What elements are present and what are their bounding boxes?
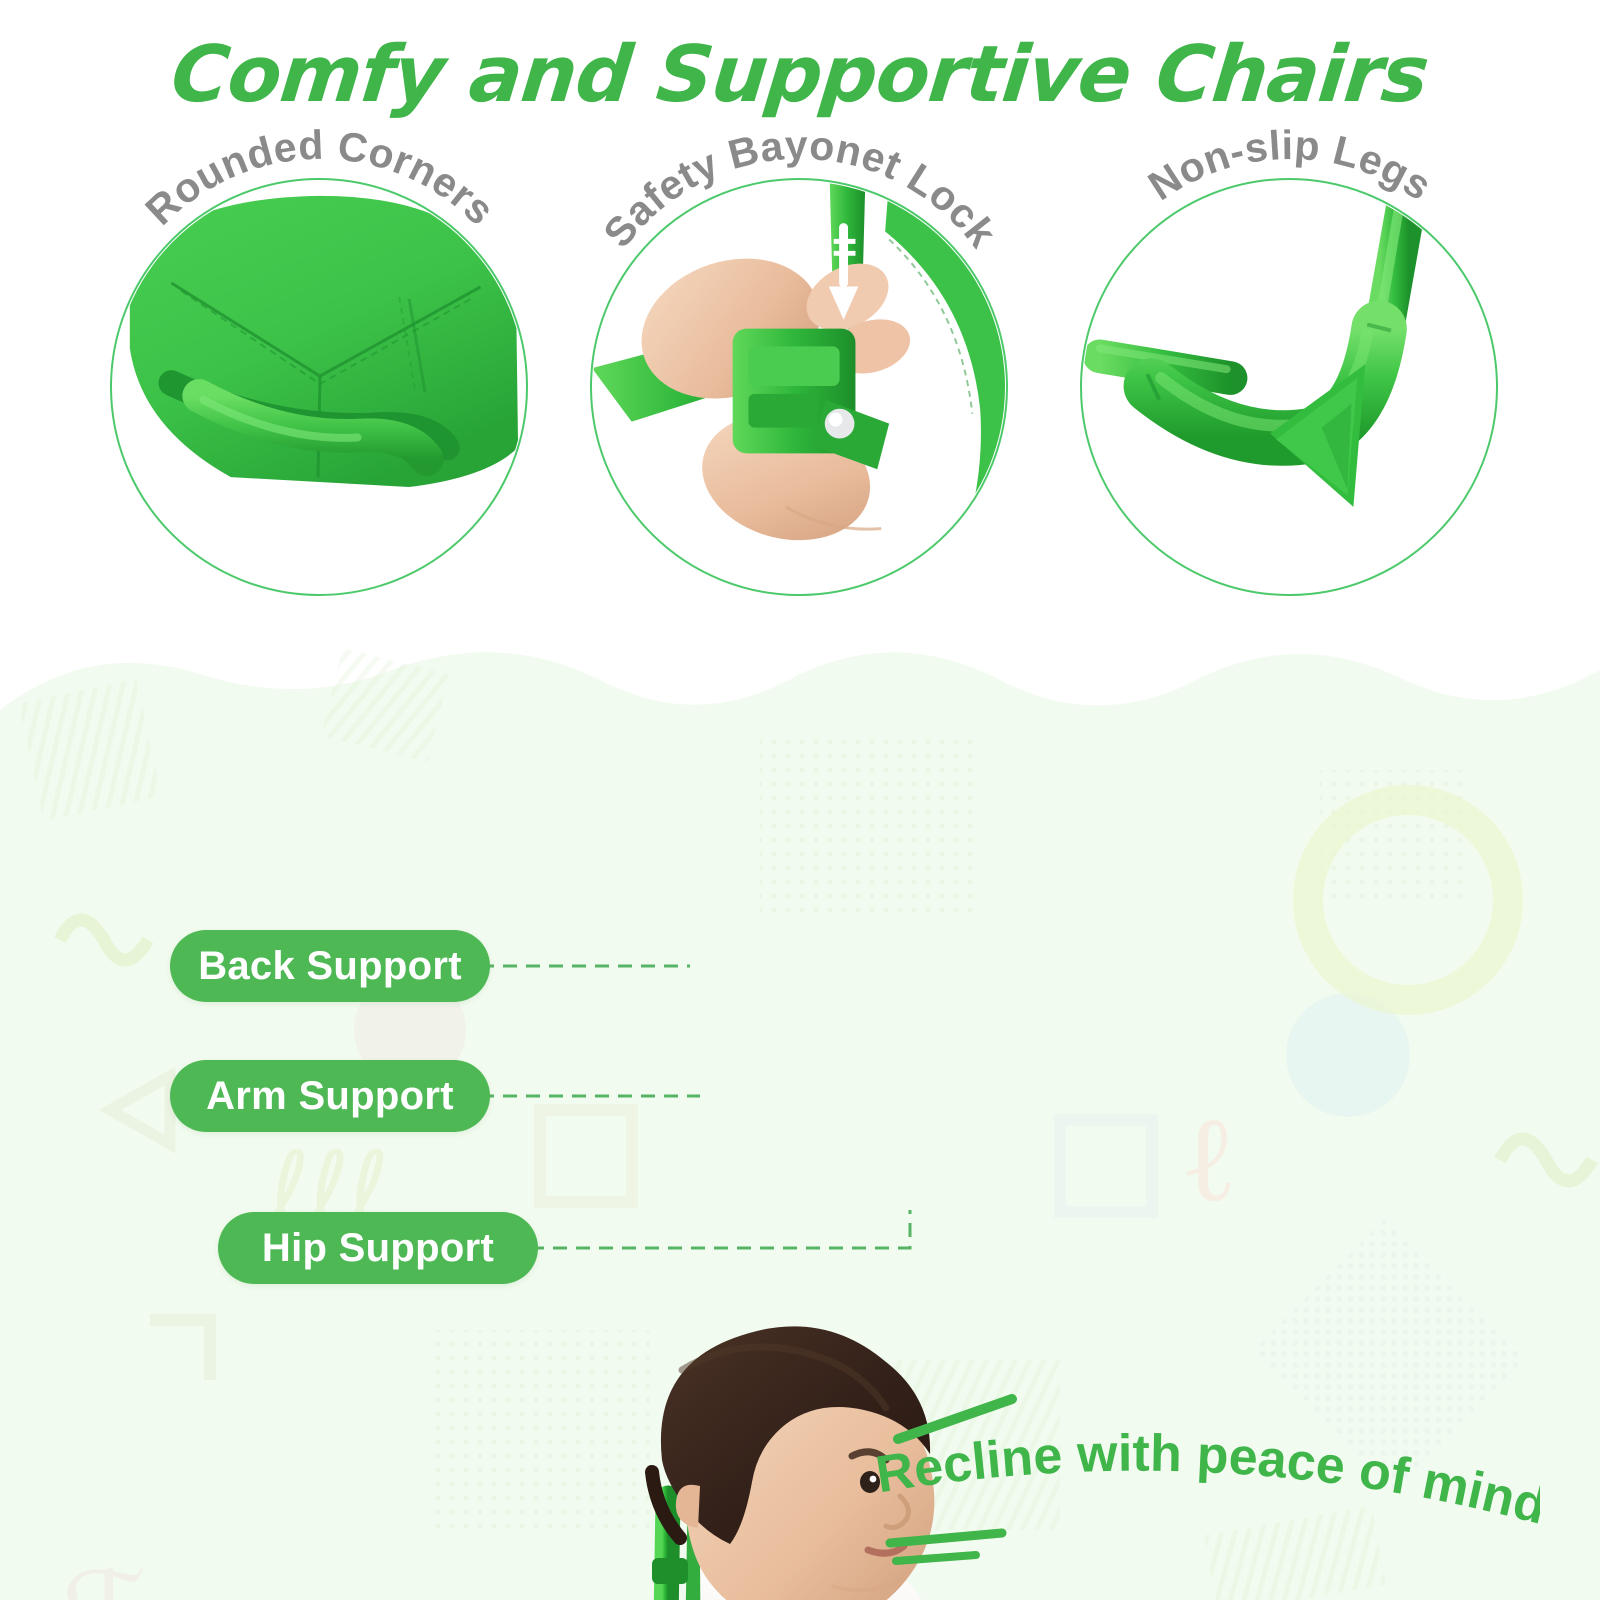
page-title-container: Comfy and Supportive Chairs [0,20,1600,130]
callout-pill-hip-support[interactable]: Hip Support [218,1212,538,1284]
feature-circle-rounded-corners: Rounded Corners [110,178,530,598]
feature-circle-ring [1080,178,1498,596]
page-title: Comfy and Supportive Chairs [167,30,1432,120]
product-feature-page: Comfy and Supportive Chairs [0,0,1600,1600]
feature-circle-safety-bayonet-lock: Safety Bayonet Lock [590,178,1010,598]
non-slip-legs-photo [1082,180,1496,594]
rounded-corners-photo [112,180,526,594]
feature-circle-ring [590,178,1008,596]
feature-circle-non-slip-legs: Non-slip Legs [1080,178,1500,598]
bayonet-lock-photo [592,180,1006,594]
feature-circle-ring [110,178,528,596]
feature-circles: Rounded Corners [0,150,1600,620]
leader-hip-support [530,1210,910,1248]
callout-pill-arm-support[interactable]: Arm Support [170,1060,490,1132]
callout-pill-back-support[interactable]: Back Support [170,930,490,1002]
